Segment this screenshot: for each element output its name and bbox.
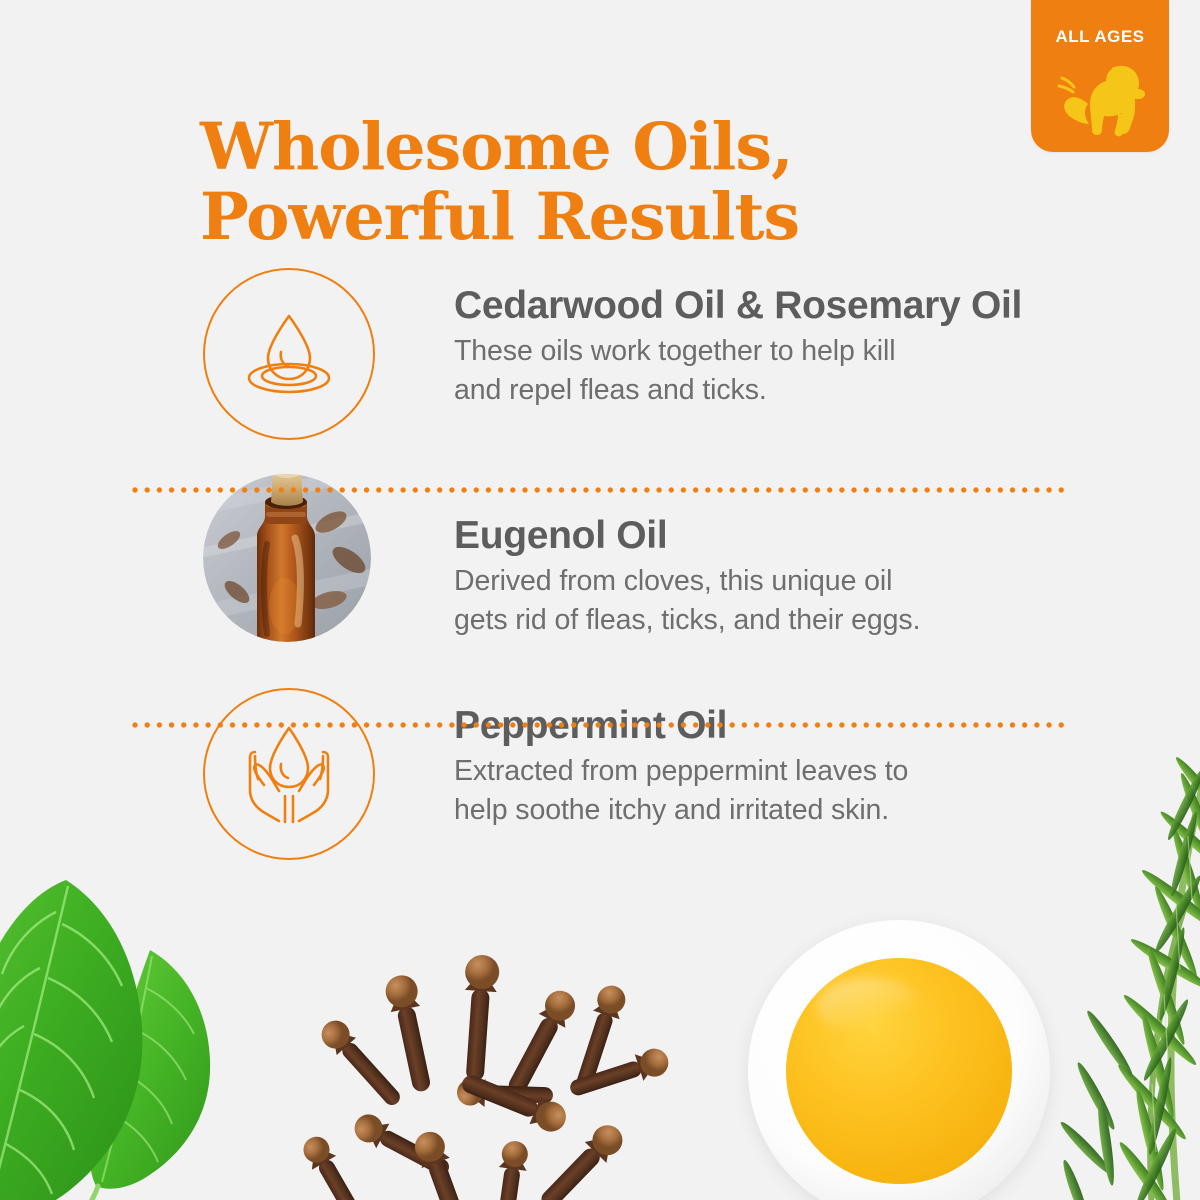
feature-row-eugenol: Eugenol Oil Derived from cloves, this un… [0, 472, 1200, 682]
feature-text-2: Eugenol Oil Derived from cloves, this un… [454, 514, 1140, 640]
bowl-of-oil-photo [748, 920, 1050, 1200]
feature-body-1-line-2: and repel fleas and ticks. [454, 371, 1140, 410]
golden-oil-surface [786, 958, 1013, 1185]
water-droplet-ripple-icon [229, 294, 349, 414]
feature-body-2: Derived from cloves, this unique oil get… [454, 562, 1140, 641]
page-title-line-2: Powerful Results [200, 182, 1020, 252]
dried-cloves-photo [285, 955, 685, 1200]
feature-icon-container-2 [203, 474, 371, 642]
feature-body-3-line-1: Extracted from peppermint leaves to [454, 752, 1140, 791]
feature-body-1: These oils work together to help kill an… [454, 332, 1140, 411]
page-title-line-1: Wholesome Oils, [200, 112, 1020, 182]
dotted-divider-1 [132, 487, 1068, 493]
dotted-divider-2 [132, 722, 1068, 728]
feature-row-peppermint: Peppermint Oil Extracted from peppermint… [0, 682, 1200, 892]
feature-body-3: Extracted from peppermint leaves to help… [454, 752, 1140, 831]
feature-icon-container-1 [203, 268, 375, 440]
hands-holding-droplet-icon [227, 712, 351, 836]
all-ages-badge-label: ALL AGES [1031, 27, 1169, 47]
sitting-dog-icon [1052, 52, 1148, 144]
feature-heading-2: Eugenol Oil [454, 514, 1140, 558]
feature-body-2-line-1: Derived from cloves, this unique oil [454, 562, 1140, 601]
amber-oil-bottle-photo [203, 474, 371, 642]
feature-row-cedarwood-rosemary: Cedarwood Oil & Rosemary Oil These oils … [0, 262, 1200, 472]
feature-heading-1: Cedarwood Oil & Rosemary Oil [454, 284, 1140, 328]
feature-text-1: Cedarwood Oil & Rosemary Oil These oils … [454, 284, 1140, 410]
feature-body-2-line-2: gets rid of fleas, ticks, and their eggs… [454, 601, 1140, 640]
infographic-canvas: ALL AGES Wholesome Oils, Powerful Result… [0, 0, 1200, 1200]
bowl-rim [748, 920, 1050, 1200]
feature-body-1-line-1: These oils work together to help kill [454, 332, 1140, 371]
page-title: Wholesome Oils, Powerful Results [200, 112, 1020, 252]
all-ages-badge: ALL AGES [1031, 0, 1169, 152]
feature-icon-container-3 [203, 688, 375, 860]
feature-list: Cedarwood Oil & Rosemary Oil These oils … [0, 262, 1200, 892]
feature-body-3-line-2: help soothe itchy and irritated skin. [454, 791, 1140, 830]
